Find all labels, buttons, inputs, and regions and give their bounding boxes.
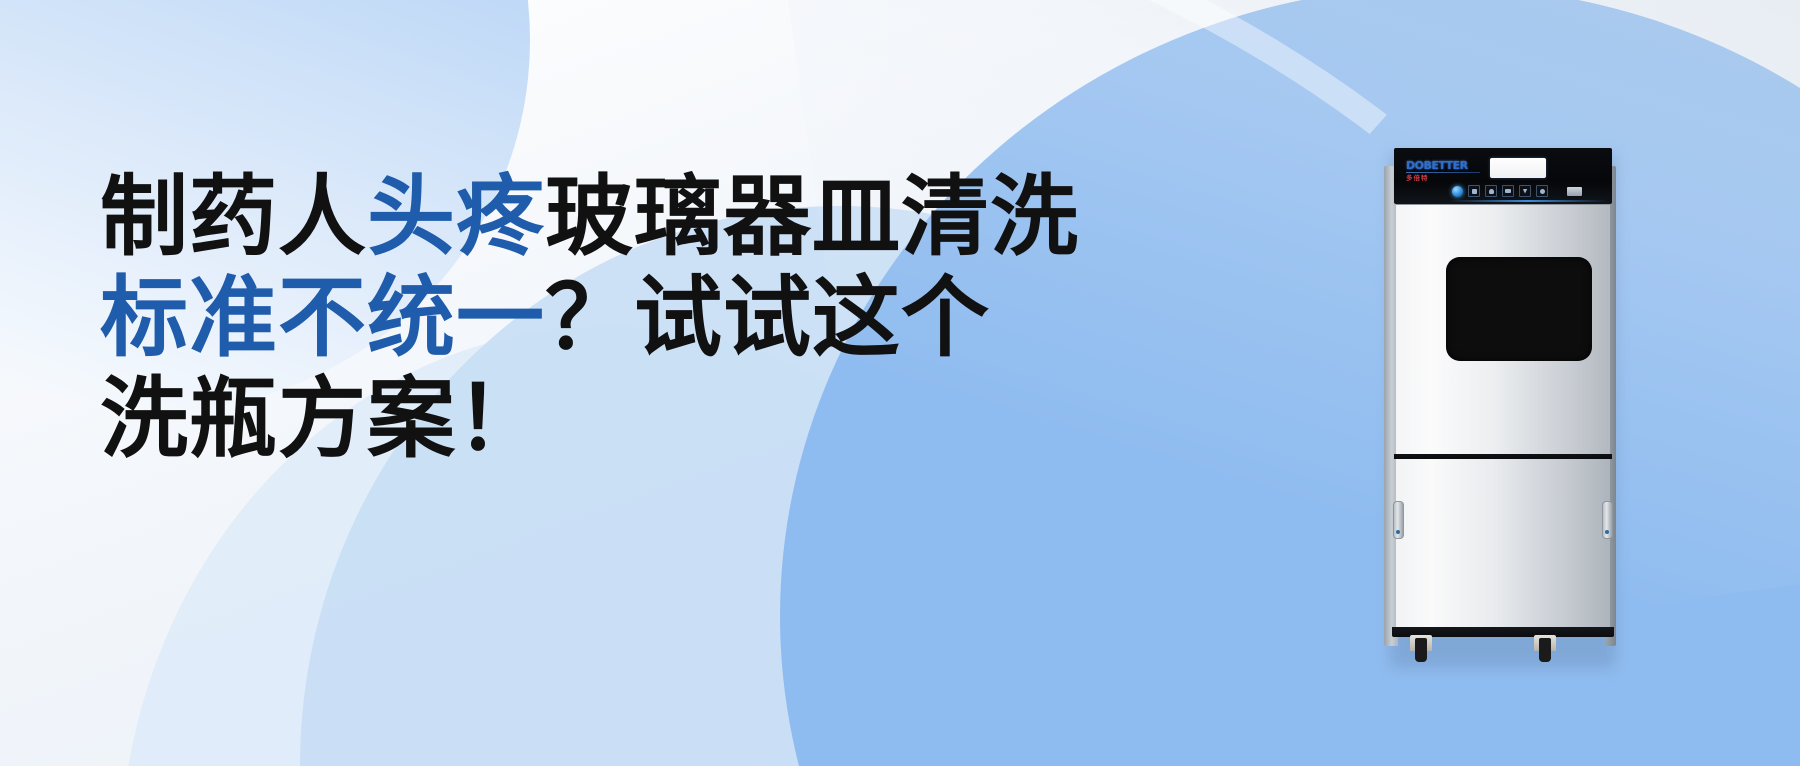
machine-display-screen[interactable] — [1490, 158, 1546, 178]
caster-tire — [1415, 638, 1427, 662]
machine-control-panel: DOBETTER 多倍特 — [1394, 148, 1612, 204]
program-button[interactable] — [1468, 185, 1480, 197]
headline-text-plain: ？试试这个 — [545, 271, 990, 368]
machine-door-window — [1446, 257, 1592, 361]
latch-handle-left[interactable] — [1393, 501, 1404, 539]
headline-text-plain: 玻璃器皿清洗 — [545, 170, 1079, 267]
headline-text-plain: 制药人 — [100, 170, 367, 267]
headline-line-3: 洗瓶方案！ — [100, 370, 1170, 471]
product-image-glassware-washer: DOBETTER 多倍特 — [1384, 148, 1616, 668]
machine-upper-door[interactable] — [1396, 204, 1610, 455]
latch-lock-icon — [1605, 530, 1609, 534]
brand-logo-cn-text: 多倍特 — [1406, 174, 1480, 183]
headline-line-2: 标准不统一？试试这个 — [100, 269, 1170, 370]
status-readout — [1567, 187, 1582, 196]
caster-wheel-right — [1534, 635, 1556, 665]
latch-lock-icon — [1396, 530, 1400, 534]
latch-handle-right[interactable] — [1602, 501, 1613, 539]
rinse-button[interactable] — [1502, 185, 1514, 197]
caster-wheel-left — [1410, 635, 1432, 665]
brand-logo: DOBETTER 多倍特 — [1406, 160, 1480, 183]
headline-text-accent: 标准不统一 — [100, 271, 545, 368]
caster-tire — [1539, 638, 1551, 662]
machine-control-row — [1452, 184, 1602, 198]
drain-button[interactable] — [1519, 185, 1531, 197]
headline: 制药人头疼玻璃器皿清洗 标准不统一？试试这个 洗瓶方案！ — [100, 168, 1170, 471]
machine-lower-door[interactable] — [1396, 459, 1610, 627]
headline-text-plain: 洗瓶方案！ — [100, 372, 545, 469]
headline-line-1: 制药人头疼玻璃器皿清洗 — [100, 168, 1170, 269]
brand-logo-rule — [1406, 172, 1480, 173]
power-indicator-icon — [1452, 186, 1463, 197]
machine-body: DOBETTER 多倍特 — [1384, 148, 1616, 668]
control-panel-accent-line — [1448, 200, 1608, 202]
start-button[interactable] — [1536, 185, 1548, 197]
brand-logo-text: DOBETTER — [1406, 160, 1480, 171]
temperature-button[interactable] — [1485, 185, 1497, 197]
headline-text-accent: 头疼 — [367, 170, 545, 267]
promo-banner: 制药人头疼玻璃器皿清洗 标准不统一？试试这个 洗瓶方案！ DOBETTER 多倍… — [0, 0, 1800, 766]
